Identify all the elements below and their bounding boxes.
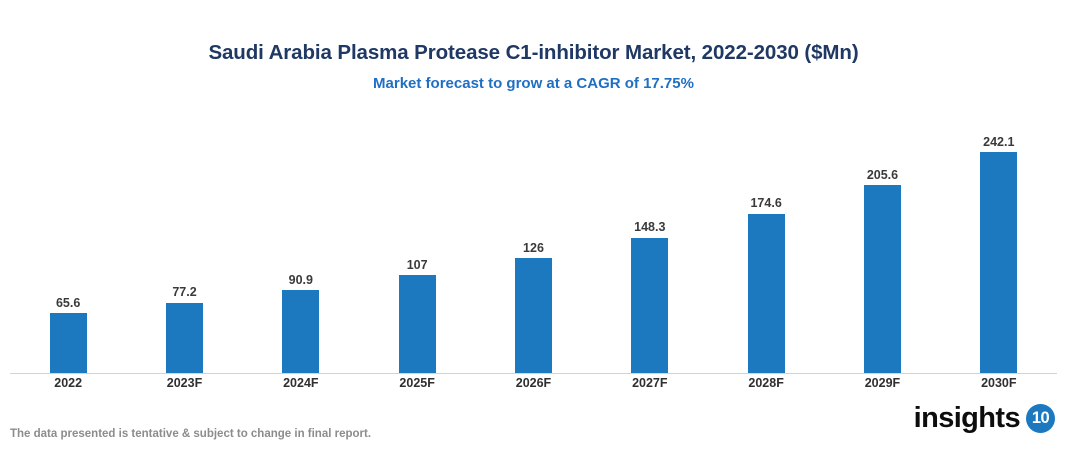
bar-value-label: 174.6 [750,197,781,210]
x-axis-tick-label: 2023F [126,377,242,391]
logo-badge-icon: 10 [1026,404,1055,433]
bar[interactable] [50,313,87,373]
x-axis-tick-label: 2022 [10,377,126,391]
bar[interactable] [631,238,668,373]
bar[interactable] [748,214,785,373]
x-axis-labels: 2022 2023F 2024F 2025F 2026F 2027F 2028F… [10,377,1057,391]
bar-value-label: 107 [407,259,428,272]
chart-subtitle: Market forecast to grow at a CAGR of 17.… [0,75,1067,93]
bar-value-label: 77.2 [172,286,196,299]
x-axis-tick-label: 2027F [592,377,708,391]
page-title: Saudi Arabia Plasma Protease C1-inhibito… [0,40,1067,66]
plot-area: 65.6 77.2 90.9 107 126 148.3 [10,110,1057,374]
bar-slot: 126 [475,110,591,373]
bar[interactable] [282,290,319,373]
x-axis-tick-label: 2030F [941,377,1057,391]
bar-slot: 107 [359,110,475,373]
logo-wordmark: insights [914,404,1020,433]
x-axis-tick-label: 2024F [243,377,359,391]
bar-value-label: 90.9 [289,274,313,287]
bar-slot: 174.6 [708,110,824,373]
x-axis-tick-label: 2025F [359,377,475,391]
bar[interactable] [399,275,436,373]
title-block: Saudi Arabia Plasma Protease C1-inhibito… [0,40,1067,93]
x-axis-tick-label: 2026F [475,377,591,391]
bar-slot: 242.1 [941,110,1057,373]
x-axis-line [10,373,1057,374]
chart-page: Saudi Arabia Plasma Protease C1-inhibito… [0,0,1067,454]
bar-slot: 205.6 [824,110,940,373]
bar-value-label: 148.3 [634,221,665,234]
bar[interactable] [864,185,901,373]
bar-slot: 65.6 [10,110,126,373]
bar[interactable] [980,152,1017,373]
bar-value-label: 205.6 [867,169,898,182]
bar[interactable] [166,303,203,374]
bar-value-label: 242.1 [983,136,1014,149]
bar-slot: 77.2 [126,110,242,373]
bar-value-label: 65.6 [56,297,80,310]
x-axis-tick-label: 2029F [824,377,940,391]
bar-slot: 90.9 [243,110,359,373]
bar-value-label: 126 [523,242,544,255]
insights10-logo: insights 10 [914,404,1055,433]
disclaimer-note: The data presented is tentative & subjec… [10,428,371,442]
bar-series: 65.6 77.2 90.9 107 126 148.3 [10,110,1057,373]
bar-slot: 148.3 [592,110,708,373]
bar[interactable] [515,258,552,373]
x-axis-tick-label: 2028F [708,377,824,391]
